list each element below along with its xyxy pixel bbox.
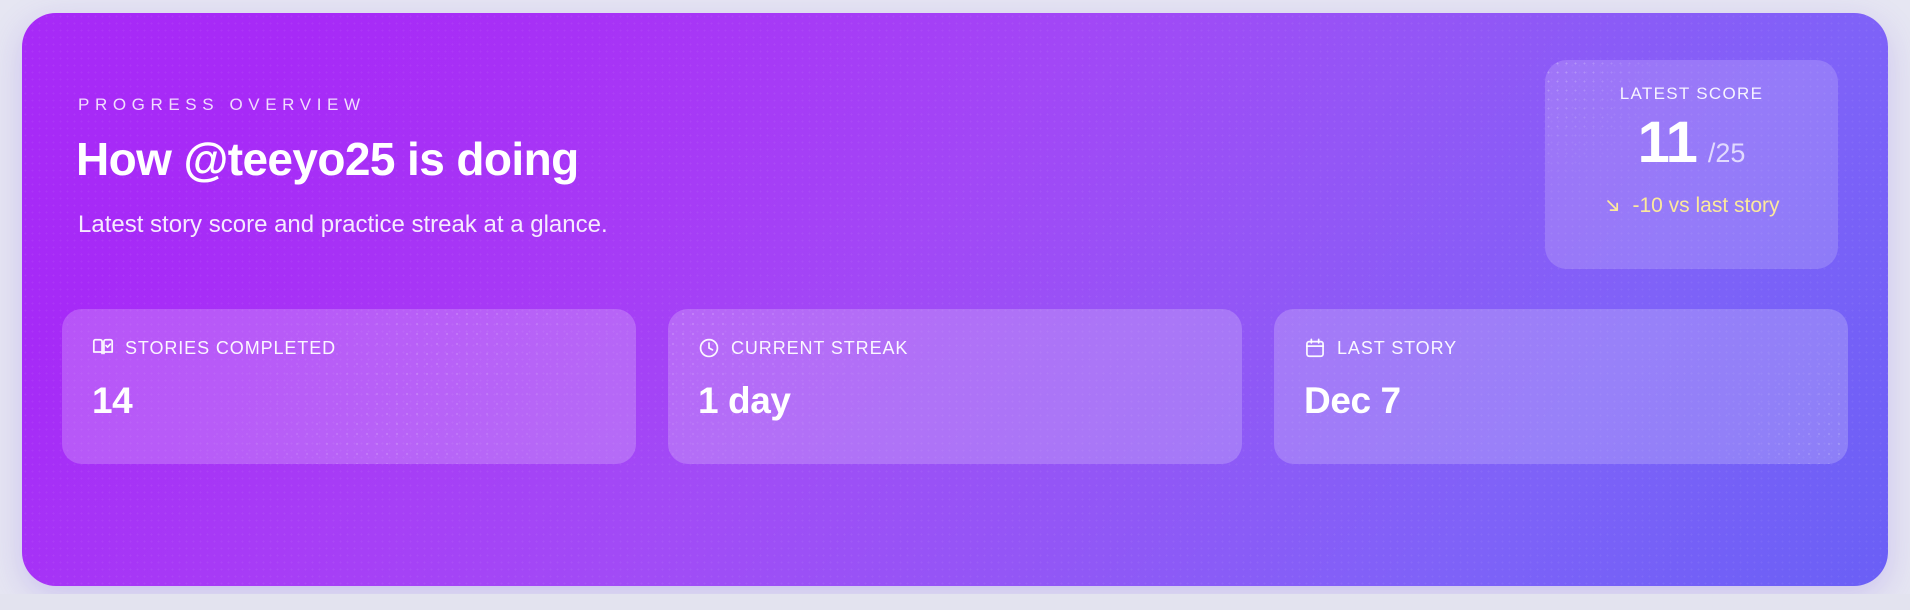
- stat-card-row: STORIES COMPLETED 14 CURRENT STREAK 1 da…: [62, 309, 1848, 464]
- stat-label: LAST STORY: [1337, 338, 1457, 359]
- book-check-icon: [92, 337, 114, 359]
- stat-header: STORIES COMPLETED: [92, 337, 606, 359]
- page-subtitle: Latest story score and practice streak a…: [78, 211, 608, 239]
- clock-icon: [698, 337, 720, 359]
- stat-value: 14: [92, 380, 606, 422]
- stat-header: LAST STORY: [1304, 337, 1818, 359]
- stat-value: 1 day: [698, 380, 1212, 422]
- eyebrow-label: PROGRESS OVERVIEW: [78, 95, 366, 115]
- stat-card-stories-completed[interactable]: STORIES COMPLETED 14: [62, 309, 636, 464]
- stat-label: STORIES COMPLETED: [125, 338, 336, 359]
- latest-score-max: /25: [1708, 138, 1746, 169]
- stat-card-last-story[interactable]: LAST STORY Dec 7: [1274, 309, 1848, 464]
- score-delta: -10 vs last story: [1545, 194, 1838, 218]
- latest-score-card[interactable]: LATEST SCORE 11 /25 -10 vs last story: [1545, 60, 1838, 269]
- stat-card-current-streak[interactable]: CURRENT STREAK 1 day: [668, 309, 1242, 464]
- latest-score-value: 11: [1638, 114, 1697, 172]
- stat-value: Dec 7: [1304, 380, 1818, 422]
- page-bottom-edge: [0, 594, 1910, 610]
- progress-overview-hero-card: PROGRESS OVERVIEW How @teeyo25 is doing …: [22, 13, 1888, 586]
- arrow-down-right-icon: [1603, 196, 1623, 216]
- stat-label: CURRENT STREAK: [731, 338, 908, 359]
- stat-header: CURRENT STREAK: [698, 337, 1212, 359]
- calendar-icon: [1304, 337, 1326, 359]
- latest-score-value-row: 11 /25: [1545, 114, 1838, 172]
- latest-score-label: LATEST SCORE: [1545, 84, 1838, 104]
- score-delta-text: -10 vs last story: [1632, 194, 1779, 218]
- page-title: How @teeyo25 is doing: [76, 132, 579, 186]
